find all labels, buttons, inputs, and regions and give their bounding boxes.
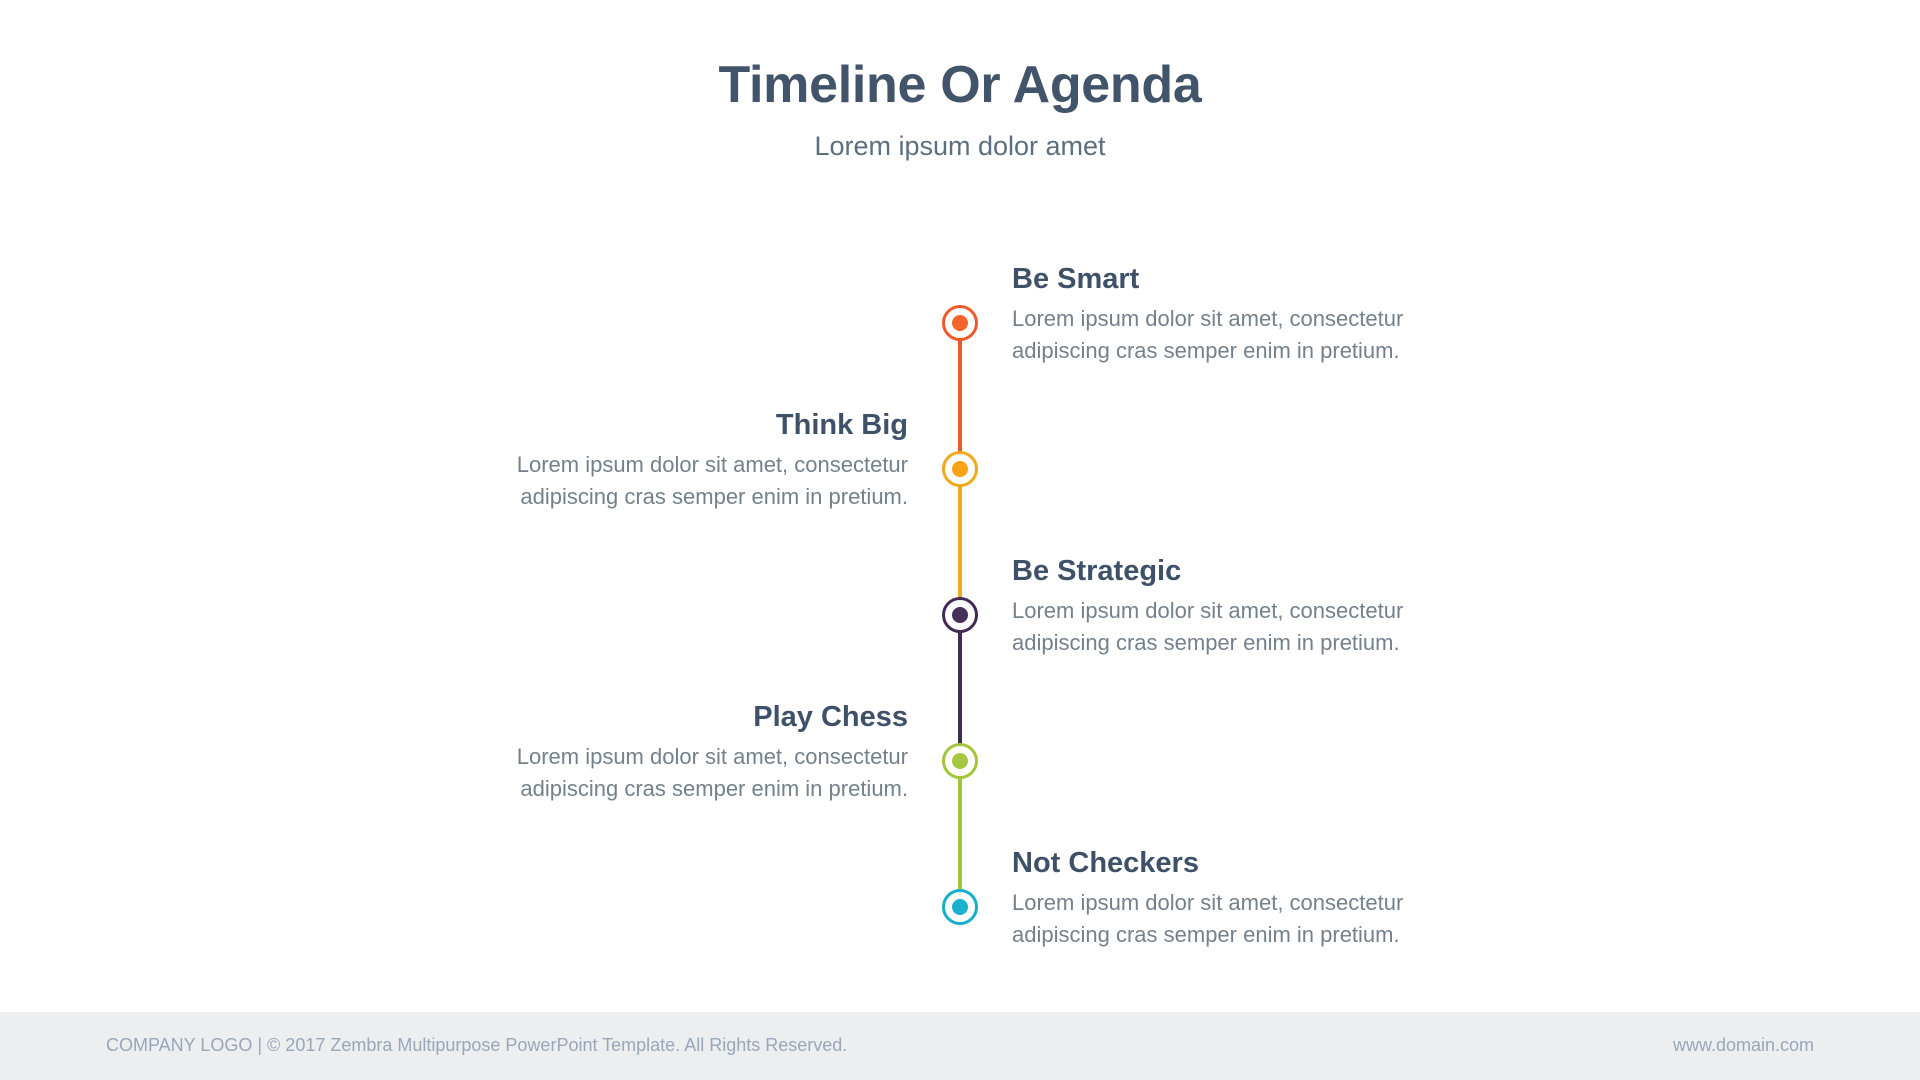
timeline-connector-4 [958,775,962,893]
timeline-item-heading: Be Smart [1012,263,1412,296]
timeline-marker-be-strategic[interactable] [942,597,978,633]
timeline-connector-1 [958,337,962,455]
timeline-item-heading: Think Big [508,409,908,442]
timeline-item-body: Lorem ipsum dolor sit amet, consectetur … [1012,303,1412,365]
timeline-marker-think-big[interactable] [942,451,978,487]
timeline-dot-icon [952,607,968,623]
timeline-item-3: Be StrategicLorem ipsum dolor sit amet, … [1012,555,1412,658]
timeline-item-heading: Play Chess [508,701,908,734]
timeline-dot-icon [952,753,968,769]
timeline-connector-2 [958,483,962,601]
timeline-item-heading: Not Checkers [1012,847,1412,880]
timeline-item-2: Think BigLorem ipsum dolor sit amet, con… [508,409,908,512]
timeline-item-body: Lorem ipsum dolor sit amet, consectetur … [508,449,908,511]
timeline-graphic: Be SmartLorem ipsum dolor sit amet, cons… [0,230,1920,970]
footer-website[interactable]: www.domain.com [1673,1035,1814,1057]
slide-canvas: Timeline Or Agenda Lorem ipsum dolor ame… [0,0,1920,1080]
timeline-dot-icon [952,899,968,915]
timeline-marker-play-chess[interactable] [942,743,978,779]
timeline-item-5: Not CheckersLorem ipsum dolor sit amet, … [1012,847,1412,950]
timeline-connector-3 [958,629,962,747]
page-title: Timeline Or Agenda [0,56,1920,116]
timeline-item-body: Lorem ipsum dolor sit amet, consectetur … [508,741,908,803]
page-subtitle: Lorem ipsum dolor amet [0,130,1920,162]
timeline-item-4: Play ChessLorem ipsum dolor sit amet, co… [508,701,908,804]
timeline-dot-icon [952,461,968,477]
timeline-item-body: Lorem ipsum dolor sit amet, consectetur … [1012,887,1412,949]
timeline-marker-not-checkers[interactable] [942,889,978,925]
timeline-item-1: Be SmartLorem ipsum dolor sit amet, cons… [1012,263,1412,366]
timeline-item-body: Lorem ipsum dolor sit amet, consectetur … [1012,595,1412,657]
footer-copyright: COMPANY LOGO | © 2017 Zembra Multipurpos… [106,1035,847,1057]
timeline-marker-be-smart[interactable] [942,305,978,341]
slide-footer: COMPANY LOGO | © 2017 Zembra Multipurpos… [0,1012,1920,1080]
timeline-item-heading: Be Strategic [1012,555,1412,588]
slide-header: Timeline Or Agenda Lorem ipsum dolor ame… [0,56,1920,162]
timeline-dot-icon [952,315,968,331]
